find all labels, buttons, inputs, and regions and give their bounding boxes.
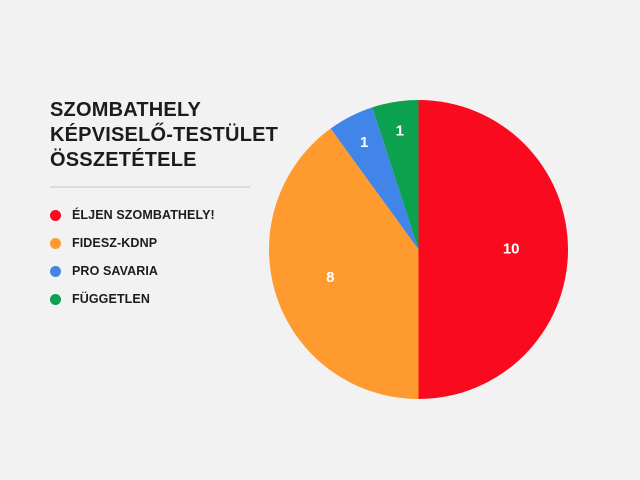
- legend-swatch-icon: [50, 238, 61, 249]
- chart-canvas: SZOMBATHELY KÉPVISELŐ-TESTÜLET ÖSSZETÉTE…: [0, 0, 640, 480]
- pie-slice[interactable]: [419, 100, 569, 399]
- pie-slice-label: 10: [503, 240, 520, 257]
- chart-legend: ÉLJEN SZOMBATHELY! FIDESZ-KDNP PRO SAVAR…: [50, 201, 215, 313]
- legend-item-fidesz-kdnp[interactable]: FIDESZ-KDNP: [50, 229, 215, 257]
- legend-item-fuggetlen[interactable]: FÜGGETLEN: [50, 285, 215, 313]
- legend-item-label: FÜGGETLEN: [72, 292, 150, 306]
- page-title-line-3: ÖSSZETÉTELE: [50, 148, 310, 173]
- legend-item-eljen-szombathely[interactable]: ÉLJEN SZOMBATHELY!: [50, 201, 215, 229]
- pie-slice-group: [269, 100, 568, 399]
- pie-slice-label: 1: [360, 134, 368, 151]
- pie-chart-svg: 10811: [269, 100, 568, 399]
- pie-slice-label: 8: [326, 269, 334, 286]
- legend-swatch-icon: [50, 294, 61, 305]
- page-title-line-1: SZOMBATHELY: [50, 98, 310, 123]
- legend-item-label: FIDESZ-KDNP: [72, 236, 157, 250]
- legend-item-label: ÉLJEN SZOMBATHELY!: [72, 208, 215, 222]
- legend-item-label: PRO SAVARIA: [72, 264, 158, 278]
- pie-slice-label: 1: [396, 122, 404, 139]
- legend-swatch-icon: [50, 210, 61, 221]
- legend-swatch-icon: [50, 266, 61, 277]
- pie-chart: 10811: [269, 100, 568, 399]
- legend-item-pro-savaria[interactable]: PRO SAVARIA: [50, 257, 215, 285]
- page-title: SZOMBATHELY KÉPVISELŐ-TESTÜLET ÖSSZETÉTE…: [50, 98, 310, 173]
- page-title-line-2: KÉPVISELŐ-TESTÜLET: [50, 123, 310, 148]
- legend-divider: [50, 186, 250, 188]
